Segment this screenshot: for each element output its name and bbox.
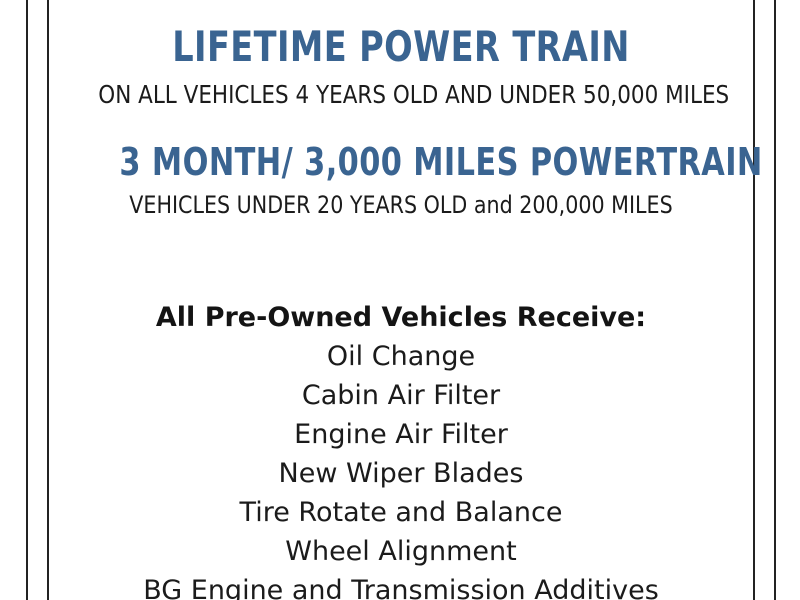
lifetime-powertrain-subline: ON ALL VEHICLES 4 YEARS OLD AND UNDER 50…	[98, 82, 703, 107]
service-item: Oil Change	[49, 337, 753, 376]
frame-rule-left-outer	[26, 0, 28, 600]
service-item: BG Engine and Transmission Additives	[49, 571, 753, 600]
flyer-document: LIFETIME POWER TRAIN ON ALL VEHICLES 4 Y…	[0, 0, 800, 600]
services-list: Oil ChangeCabin Air FilterEngine Air Fil…	[49, 337, 753, 600]
service-item: New Wiper Blades	[49, 454, 753, 493]
service-item: Tire Rotate and Balance	[49, 493, 753, 532]
service-item: Cabin Air Filter	[49, 376, 753, 415]
frame-rule-right-inner	[753, 0, 755, 600]
frame-rule-right-outer	[774, 0, 776, 600]
three-month-powertrain-subline: VEHICLES UNDER 20 YEARS OLD and 200,000 …	[98, 193, 703, 217]
service-item: Wheel Alignment	[49, 532, 753, 571]
service-item: Engine Air Filter	[49, 415, 753, 454]
services-section: All Pre-Owned Vehicles Receive: Oil Chan…	[49, 298, 753, 600]
lifetime-powertrain-headline: LIFETIME POWER TRAIN	[119, 26, 682, 68]
services-section-title: All Pre-Owned Vehicles Receive:	[49, 298, 753, 337]
three-month-powertrain-headline: 3 MONTH/ 3,000 MILES POWERTRAIN	[119, 143, 682, 181]
flyer-content: LIFETIME POWER TRAIN ON ALL VEHICLES 4 Y…	[49, 0, 753, 600]
